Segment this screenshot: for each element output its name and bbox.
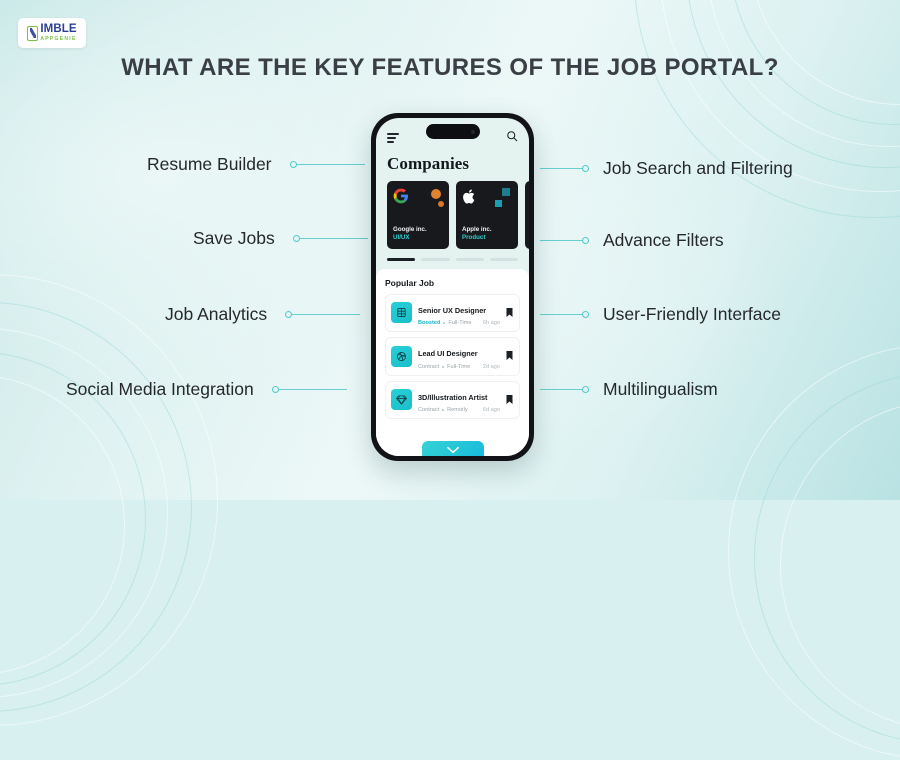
- phone-screen: Companies Google inc. UI/UX: [376, 118, 529, 456]
- job-list-item[interactable]: Senior UX Designer Boosted Full-Time 6h …: [385, 294, 520, 333]
- carousel-dot[interactable]: [421, 258, 449, 261]
- feature-item-job-analytics[interactable]: Job Analytics: [165, 304, 360, 325]
- job-posted-ago: 6h ago: [483, 320, 500, 326]
- connector-dot-icon: [285, 311, 292, 318]
- dribbble-icon: [391, 346, 412, 367]
- show-more-button[interactable]: [422, 441, 484, 456]
- job-list-item[interactable]: 3D/Illustration Artist Contract Remotly …: [385, 381, 520, 420]
- company-card-microsoft[interactable]: M Gr: [525, 181, 529, 249]
- carousel-dot[interactable]: [490, 258, 518, 261]
- job-title: Senior UX Designer: [418, 306, 486, 315]
- page-title: WHAT ARE THE KEY FEATURES OF THE JOB POR…: [0, 54, 900, 82]
- figma-icon: [391, 302, 412, 323]
- connector-dot-icon: [582, 237, 589, 244]
- job-title: Lead UI Designer: [418, 349, 478, 358]
- feature-item-multilingualism[interactable]: Multilingualism: [540, 379, 718, 400]
- feature-item-save-jobs[interactable]: Save Jobs: [193, 228, 368, 249]
- company-name: Google inc.: [393, 226, 443, 233]
- connector-dot-icon: [582, 311, 589, 318]
- feature-label: Save Jobs: [193, 228, 275, 249]
- job-posted-ago: 6d ago: [483, 407, 500, 413]
- company-name: Apple inc.: [462, 226, 512, 233]
- connector-line: [540, 240, 582, 242]
- carousel-indicator[interactable]: [376, 249, 529, 267]
- meta-separator: [442, 409, 444, 411]
- job-badge: Contract: [418, 364, 439, 370]
- decor-square: [495, 200, 502, 207]
- feature-label: Resume Builder: [147, 154, 272, 175]
- brand-logo[interactable]: IMBLE APPGENIE: [18, 18, 86, 48]
- section-heading: Popular Job: [385, 278, 520, 288]
- feature-item-social-media-integration[interactable]: Social Media Integration: [66, 379, 347, 400]
- feature-label: Advance Filters: [603, 230, 724, 251]
- screen-title: Companies: [376, 148, 529, 181]
- feature-item-user-friendly-interface[interactable]: User-Friendly Interface: [540, 304, 781, 325]
- bookmark-icon[interactable]: [506, 347, 514, 365]
- phone-outline-icon: [27, 26, 38, 41]
- company-tag: UI/UX: [393, 234, 443, 242]
- job-meta: Contract Remotly 6d ago: [418, 407, 500, 413]
- logo-wordmark: IMBLE: [40, 24, 76, 36]
- chevron-down-icon: [446, 441, 460, 457]
- company-card-google[interactable]: Google inc. UI/UX: [387, 181, 449, 249]
- feature-item-job-search-and-filtering[interactable]: Job Search and Filtering: [540, 158, 793, 179]
- bookmark-icon[interactable]: [506, 304, 514, 322]
- dynamic-island: [426, 124, 480, 139]
- connector-line: [300, 238, 368, 240]
- feature-label: Multilingualism: [603, 379, 718, 400]
- job-meta: Contract Full-Time 2d ago: [418, 364, 500, 370]
- company-card-apple[interactable]: Apple inc. Product: [456, 181, 518, 249]
- company-carousel[interactable]: Google inc. UI/UX Apple inc. Product: [376, 181, 529, 249]
- job-list-item[interactable]: Lead UI Designer Contract Full-Time 2d a…: [385, 337, 520, 376]
- feature-label: Job Search and Filtering: [603, 158, 793, 179]
- search-icon[interactable]: [506, 129, 518, 147]
- bookmark-icon[interactable]: [506, 391, 514, 409]
- apple-logo-icon: [462, 188, 480, 206]
- connector-line: [292, 314, 360, 316]
- meta-separator: [443, 322, 445, 324]
- meta-separator: [442, 366, 444, 368]
- connector-dot-icon: [290, 161, 297, 168]
- front-camera-icon: [471, 130, 475, 134]
- feature-label: Job Analytics: [165, 304, 267, 325]
- connector-dot-icon: [293, 235, 300, 242]
- job-badge: Contract: [418, 407, 439, 413]
- phone-mockup: Companies Google inc. UI/UX: [371, 113, 534, 461]
- google-logo-icon: [393, 188, 411, 206]
- connector-line: [540, 314, 582, 316]
- connector-line: [540, 389, 582, 391]
- hamburger-menu-icon[interactable]: [387, 133, 399, 143]
- job-meta: Boosted Full-Time 6h ago: [418, 320, 500, 326]
- feature-label: User-Friendly Interface: [603, 304, 781, 325]
- connector-line: [297, 164, 365, 166]
- job-type: Full-Time: [447, 364, 470, 370]
- carousel-dot[interactable]: [456, 258, 484, 261]
- decor-circle: [431, 189, 441, 199]
- job-type: Full-Time: [448, 320, 471, 326]
- connector-dot-icon: [582, 165, 589, 172]
- connector-dot-icon: [582, 386, 589, 393]
- decor-square: [502, 188, 510, 196]
- connector-line: [279, 389, 347, 391]
- logo-subtext: APPGENIE: [40, 37, 76, 42]
- job-badge: Boosted: [418, 320, 440, 326]
- connector-dot-icon: [272, 386, 279, 393]
- decor-circle: [438, 201, 444, 207]
- diamond-icon: [391, 389, 412, 410]
- popular-jobs-panel: Popular Job Senior UX Designer Boosted: [376, 269, 529, 456]
- carousel-dot[interactable]: [387, 258, 415, 261]
- feature-item-advance-filters[interactable]: Advance Filters: [540, 230, 724, 251]
- feature-item-resume-builder[interactable]: Resume Builder: [147, 154, 365, 175]
- job-type: Remotly: [447, 407, 468, 413]
- job-title: 3D/Illustration Artist: [418, 393, 487, 402]
- connector-line: [540, 168, 582, 170]
- feature-label: Social Media Integration: [66, 379, 254, 400]
- company-tag: Product: [462, 234, 512, 242]
- job-posted-ago: 2d ago: [483, 364, 500, 370]
